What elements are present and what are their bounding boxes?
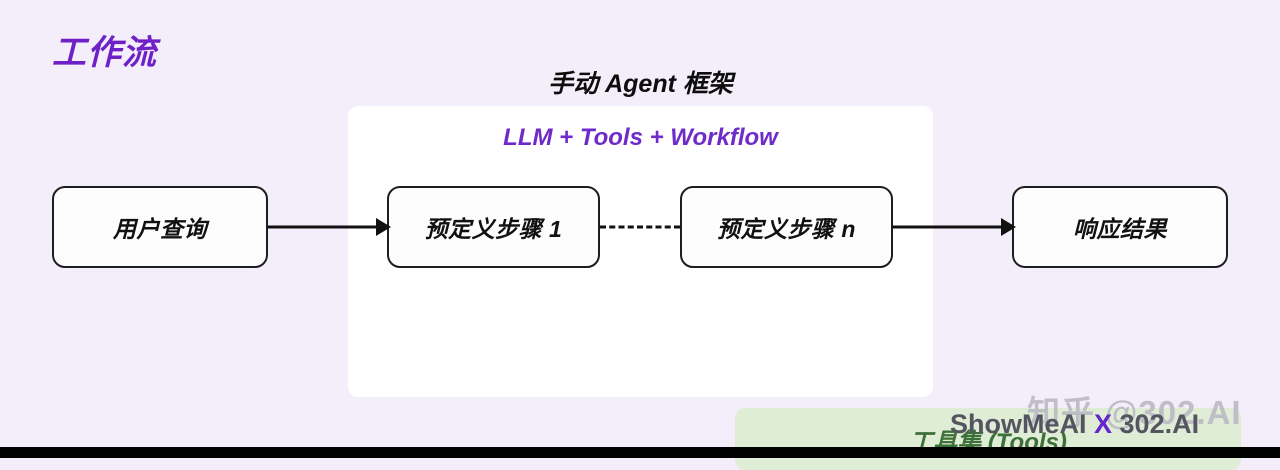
node-predefined-step-n: 预定义步骤 n <box>680 186 893 268</box>
node-response-result: 响应结果 <box>1012 186 1228 268</box>
node-user-query: 用户查询 <box>52 186 268 268</box>
framework-title: 手动 Agent 框架 <box>348 72 933 97</box>
bottom-bar <box>0 447 1280 458</box>
page-title: 工作流 <box>52 36 157 70</box>
watermark-showmeai-x: X <box>1094 409 1112 439</box>
diagram-canvas: 工作流 手动 Agent 框架 LLM + Tools + Workflow 工… <box>0 0 1280 458</box>
arrow-line <box>893 226 1001 229</box>
node-predefined-step-1: 预定义步骤 1 <box>387 186 600 268</box>
arrow-head-icon <box>376 218 391 236</box>
arrow-line <box>268 226 376 229</box>
connector-arrow-stepn-to-result <box>893 212 1015 242</box>
arrow-head-icon <box>1001 218 1016 236</box>
watermark-showmeai-prefix: ShowMeAI <box>950 409 1094 439</box>
watermark-showmeai: ShowMeAI X 302.AI <box>950 409 1199 440</box>
connector-dashed-step1-to-stepn <box>600 212 680 242</box>
panel-subtitle: LLM + Tools + Workflow <box>348 126 933 150</box>
dashed-line <box>600 226 680 229</box>
connector-arrow-user-to-step1 <box>268 212 390 242</box>
watermark-showmeai-suffix: 302.AI <box>1112 409 1199 439</box>
